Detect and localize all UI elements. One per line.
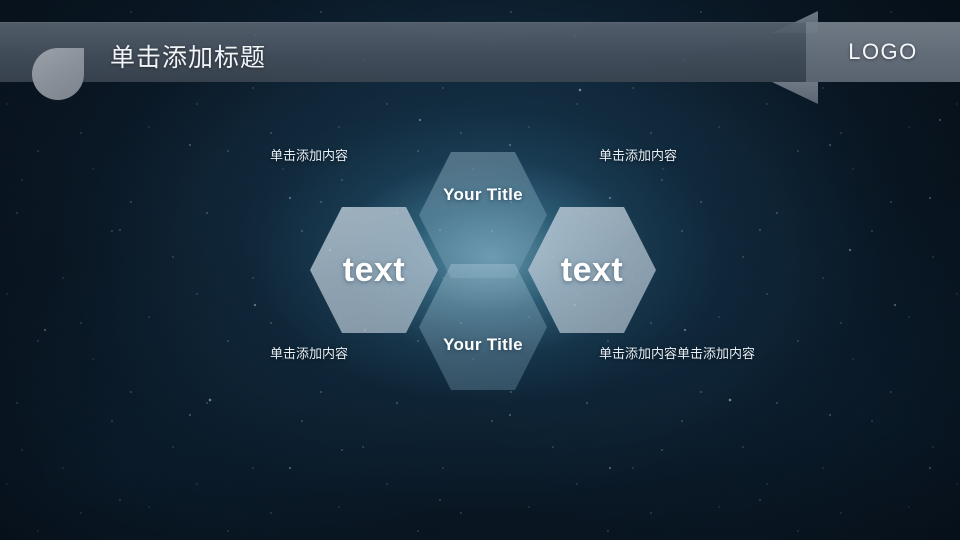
caption-top-left[interactable]: 单击添加内容 (270, 145, 348, 164)
presentation-slide: 单击添加标题 LOGO Your Title Your Title text t… (0, 0, 960, 540)
logo-placeholder-text: LOGO (848, 39, 918, 65)
caption-bottom-right[interactable]: 单击添加内容单击添加内容 (599, 343, 755, 362)
hexagon-top-label: Your Title (443, 185, 523, 205)
hexagon-bottom-label: Your Title (443, 335, 523, 355)
caption-bottom-left[interactable]: 单击添加内容 (270, 343, 348, 362)
caption-top-right[interactable]: 单击添加内容 (599, 145, 677, 164)
hexagon-left-label: text (343, 251, 405, 290)
slide-title[interactable]: 单击添加标题 (110, 38, 266, 74)
hexagon-right-label: text (561, 251, 623, 290)
logo-panel[interactable]: LOGO (806, 22, 960, 82)
decorative-circle-icon (32, 48, 84, 100)
